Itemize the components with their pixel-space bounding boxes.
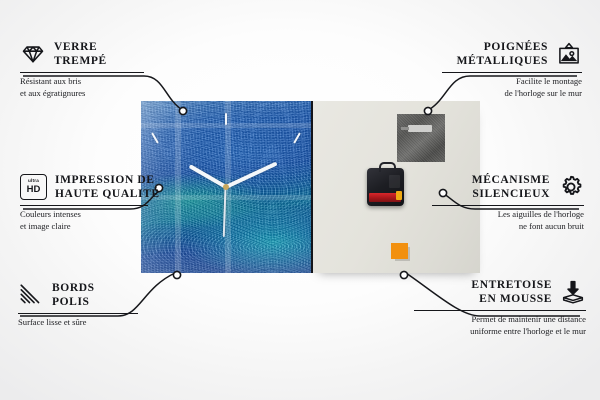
clock-center-hub: [223, 184, 229, 190]
hd-badge-hd-text: HD: [27, 185, 41, 195]
clock-hand-hour: [189, 164, 227, 188]
feature-title: POIGNÉES MÉTALLIQUES: [457, 40, 548, 68]
feature-header: ENTRETOISE EN MOUSSE: [396, 278, 586, 306]
feature-poignees-metalliques: POIGNÉES MÉTALLIQUES Facilite le montage…: [418, 40, 582, 99]
feature-description: Résistant aux bris et aux égratignures: [20, 76, 170, 99]
battery-terminal: [396, 191, 402, 200]
movement-detail: [389, 175, 400, 188]
hour-marker: [225, 113, 227, 125]
feature-entretoise-en-mousse: ENTRETOISE EN MOUSSE Permet de maintenir…: [396, 278, 586, 337]
arrow-onto-foam-icon: [560, 279, 586, 305]
feature-title: BORDS POLIS: [52, 281, 95, 309]
polished-edge-icon: [18, 282, 44, 308]
movement-hook: [379, 162, 396, 172]
feature-description: Couleurs intenses et image claire: [20, 209, 180, 232]
feature-description: Facilite le montage de l'horloge sur le …: [418, 76, 582, 99]
feature-divider: [414, 310, 586, 311]
feature-verre-trempe: VERRE TREMPÉ Résistant aux bris et aux é…: [20, 40, 170, 99]
hanger-slot: [408, 125, 432, 132]
feature-divider: [442, 72, 582, 73]
feature-description: Permet de maintenir une distance uniform…: [396, 314, 586, 337]
clock-hand-second: [224, 187, 227, 237]
hour-marker: [151, 132, 159, 143]
feature-title: ENTRETOISE EN MOUSSE: [471, 278, 552, 306]
feature-header: BORDS POLIS: [18, 281, 168, 309]
feature-title: VERRE TREMPÉ: [54, 40, 107, 68]
gear-icon: [558, 174, 584, 200]
feature-impression-haute-qualite: ultra HD IMPRESSION DE HAUTE QUALITÉ Cou…: [20, 173, 180, 232]
feature-description: Surface lisse et sûre: [18, 317, 168, 329]
feature-divider: [18, 313, 138, 314]
feature-divider: [432, 205, 584, 206]
foam-spacer: [391, 243, 408, 259]
ultra-hd-badge-icon: ultra HD: [20, 174, 47, 200]
hour-marker: [293, 132, 301, 143]
feature-title: IMPRESSION DE HAUTE QUALITÉ: [55, 173, 160, 201]
feature-divider: [20, 205, 148, 206]
infographic-canvas: VERRE TREMPÉ Résistant aux bris et aux é…: [0, 0, 600, 400]
feature-title: MÉCANISME SILENCIEUX: [472, 173, 550, 201]
framed-picture-hanging-icon: [556, 41, 582, 67]
feature-mecanisme-silencieux: MÉCANISME SILENCIEUX Les aiguilles de l'…: [412, 173, 584, 232]
feature-header: ultra HD IMPRESSION DE HAUTE QUALITÉ: [20, 173, 180, 201]
diamond-icon: [20, 41, 46, 67]
feature-bords-polis: BORDS POLIS Surface lisse et sûre: [18, 281, 168, 329]
feature-description: Les aiguilles de l'horloge ne font aucun…: [412, 209, 584, 232]
feature-header: VERRE TREMPÉ: [20, 40, 170, 68]
metal-hanger-plate: [397, 114, 445, 162]
battery: [369, 193, 401, 202]
feature-header: MÉCANISME SILENCIEUX: [412, 173, 584, 201]
clock-hand-minute: [225, 162, 277, 189]
quartz-movement: [367, 168, 404, 206]
feature-header: POIGNÉES MÉTALLIQUES: [418, 40, 582, 68]
feature-divider: [20, 72, 144, 73]
